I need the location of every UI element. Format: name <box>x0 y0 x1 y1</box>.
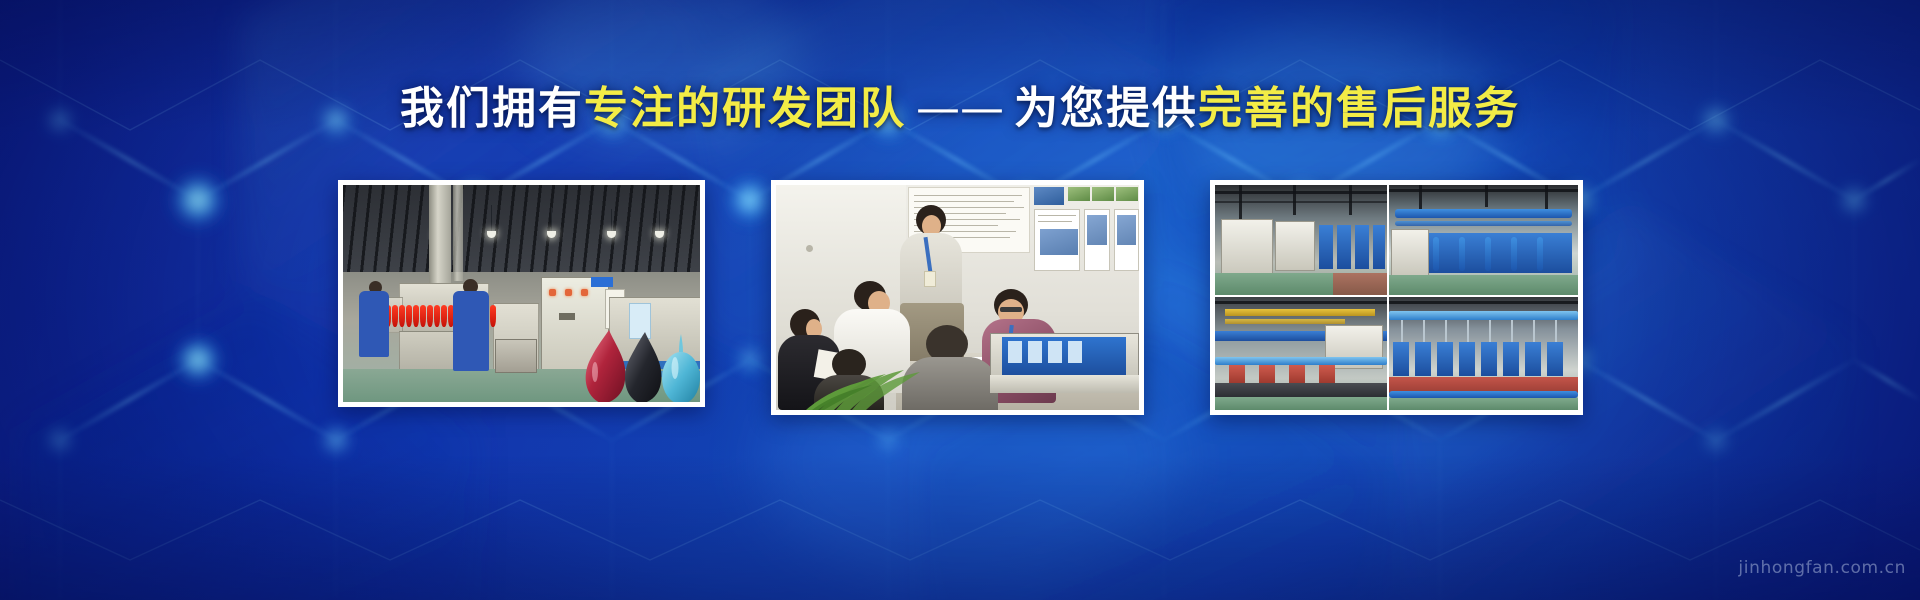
headline-dash: —— <box>906 83 1014 134</box>
factory-ceiling <box>343 185 700 272</box>
equipment-window <box>1028 341 1042 363</box>
poster-diagram <box>1117 215 1136 245</box>
poster-text-line <box>1038 215 1076 216</box>
lamp-stem <box>551 207 552 231</box>
indicator-light <box>581 289 588 296</box>
photo-frame-factory-collage[interactable] <box>1210 180 1583 415</box>
photo-gallery-row <box>0 180 1920 415</box>
poster-diagram <box>1087 215 1107 245</box>
collage-cell-conveyor <box>1215 297 1387 410</box>
photo-frame-production-line[interactable] <box>338 180 705 407</box>
collage-cell-hanging-jig-line <box>1389 297 1578 410</box>
collage-cell-coating-line <box>1215 185 1387 295</box>
ceiling-lamp <box>487 231 496 238</box>
panel-label <box>591 277 613 287</box>
panel-badge <box>559 313 575 320</box>
conveyor-chain <box>1215 383 1387 397</box>
worker-left <box>359 291 389 357</box>
eyeglasses <box>1000 307 1022 312</box>
headline-container: 我们拥有专注的研发团队——为您提供完善的售后服务 <box>0 0 1920 180</box>
promo-banner: 我们拥有专注的研发团队——为您提供完善的售后服务 <box>0 0 1920 600</box>
indicator-light <box>565 289 572 296</box>
storage-crate <box>495 339 537 373</box>
support-column <box>429 185 451 293</box>
poster-thumbnail <box>1034 187 1064 205</box>
site-watermark: jinhongfan.com.cn <box>1738 558 1906 578</box>
collage-cell-blue-tunnel <box>1389 185 1578 295</box>
support-column <box>453 185 463 281</box>
equipment-window <box>1008 341 1022 363</box>
headline-segment-1: 我们拥有 <box>400 83 584 134</box>
poster-text-line <box>914 201 1014 202</box>
headline-segment-4-highlight: 完善的售后服务 <box>1198 83 1520 134</box>
lamp-stem <box>611 209 612 231</box>
poster-thumbnail <box>1116 187 1138 201</box>
presenter-badge <box>924 271 936 287</box>
lamp-stem <box>491 205 492 231</box>
factory-collage-photo <box>1215 185 1578 410</box>
ceiling-lamp <box>547 231 556 238</box>
poster-diagram <box>1040 229 1078 255</box>
foreground-plant <box>802 352 922 410</box>
equipment-window <box>1068 341 1082 363</box>
equipment-base <box>990 375 1139 393</box>
wall-fixture <box>806 245 813 252</box>
ceiling-lamp <box>655 231 664 238</box>
lamp-stem <box>659 211 660 231</box>
poster-thumbnail <box>1068 187 1090 201</box>
indicator-light <box>549 289 556 296</box>
worker-right <box>453 291 489 371</box>
poster-text-line <box>914 195 1022 196</box>
poster-thumbnail <box>1092 187 1114 201</box>
headline-segment-2-highlight: 专注的研发团队 <box>584 83 906 134</box>
photo-frame-rnd-meeting[interactable] <box>771 180 1144 415</box>
equipment-window <box>1048 341 1062 363</box>
page-title: 我们拥有专注的研发团队——为您提供完善的售后服务 <box>400 87 1520 131</box>
ceiling-lamp <box>607 231 616 238</box>
glass-vase-overlay <box>579 328 700 402</box>
poster-text-line <box>1038 221 1072 222</box>
production-line-photo <box>343 185 700 402</box>
headline-segment-3: 为您提供 <box>1014 83 1198 134</box>
rnd-team-meeting-photo <box>776 185 1139 410</box>
